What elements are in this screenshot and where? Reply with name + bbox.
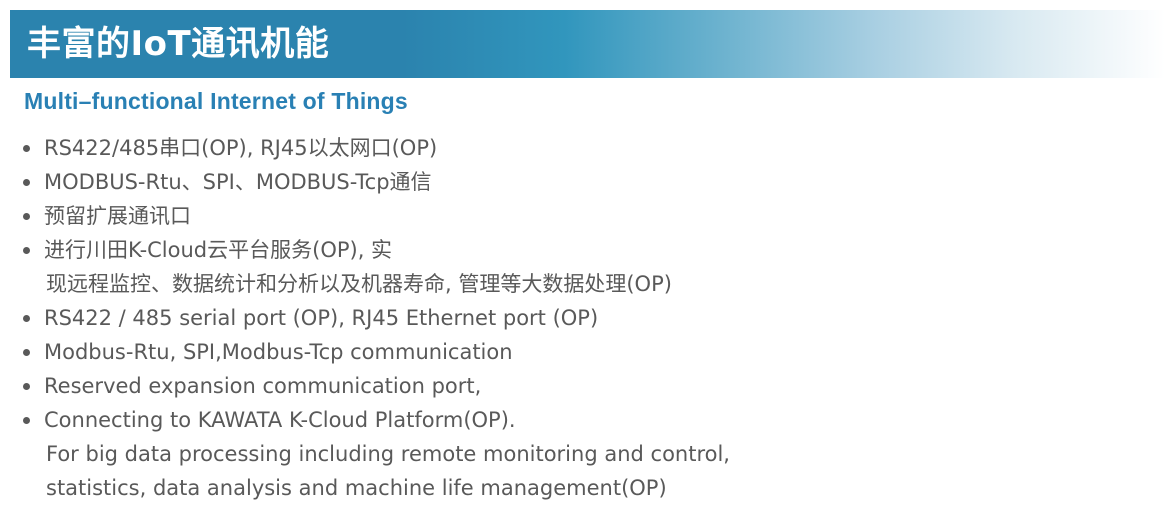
- bullet-dot-icon: [23, 315, 30, 322]
- list-item-text: MODBUS-Rtu、SPI、MODBUS-Tcp通信: [44, 165, 1138, 199]
- slide-page: 丰富的IoT通讯机能 Multi–functional Internet of …: [0, 0, 1165, 530]
- bullet-dot-icon: [23, 145, 30, 152]
- bullet-dot-icon: [23, 179, 30, 186]
- bullet-dot-icon: [23, 383, 30, 390]
- bullet-dot-icon: [23, 247, 30, 254]
- list-item-continuation: statistics, data analysis and machine li…: [44, 471, 1138, 505]
- bullet-dot-icon: [23, 213, 30, 220]
- feature-bullet-list: RS422/485串口(OP), RJ45以太网口(OP)MODBUS-Rtu、…: [18, 131, 1138, 505]
- page-title: 丰富的IoT通讯机能: [10, 27, 329, 61]
- list-item-text: 预留扩展通讯口: [44, 199, 1138, 233]
- list-item: RS422/485串口(OP), RJ45以太网口(OP): [18, 131, 1138, 165]
- list-item: RS422 / 485 serial port (OP), RJ45 Ether…: [18, 301, 1138, 335]
- list-item: MODBUS-Rtu、SPI、MODBUS-Tcp通信: [18, 165, 1138, 199]
- list-item-text: Connecting to KAWATA K-Cloud Platform(OP…: [44, 403, 1138, 437]
- list-item-text: Modbus-Rtu, SPI,Modbus-Tcp communication: [44, 335, 1138, 369]
- list-item-text: RS422 / 485 serial port (OP), RJ45 Ether…: [44, 301, 1138, 335]
- list-item-text: 进行川田K-Cloud云平台服务(OP), 实: [44, 233, 1138, 267]
- subtitle: Multi–functional Internet of Things: [24, 88, 408, 115]
- header-band: 丰富的IoT通讯机能: [10, 10, 1165, 78]
- list-item-continuation: 现远程监控、数据统计和分析以及机器寿命, 管理等大数据处理(OP): [44, 267, 1138, 301]
- list-item: Connecting to KAWATA K-Cloud Platform(OP…: [18, 403, 1138, 505]
- list-item: Reserved expansion communication port,: [18, 369, 1138, 403]
- list-item-text: Reserved expansion communication port,: [44, 369, 1138, 403]
- list-item-continuation: For big data processing including remote…: [44, 437, 1138, 471]
- list-item: Modbus-Rtu, SPI,Modbus-Tcp communication: [18, 335, 1138, 369]
- list-item-text: RS422/485串口(OP), RJ45以太网口(OP): [44, 131, 1138, 165]
- list-item: 进行川田K-Cloud云平台服务(OP), 实现远程监控、数据统计和分析以及机器…: [18, 233, 1138, 301]
- list-item: 预留扩展通讯口: [18, 199, 1138, 233]
- bullet-dot-icon: [23, 349, 30, 356]
- bullet-dot-icon: [23, 417, 30, 424]
